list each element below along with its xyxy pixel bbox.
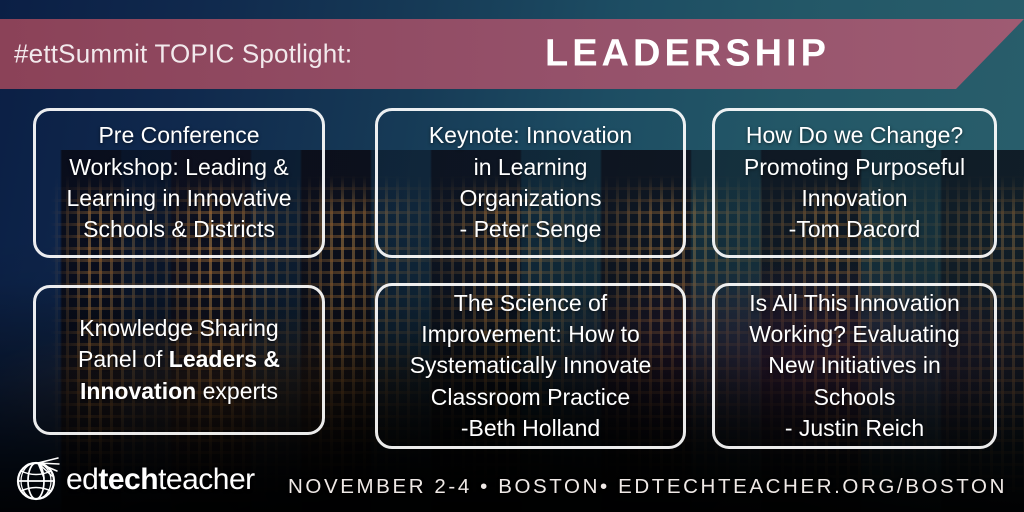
session-line-2: Promoting Purposeful xyxy=(744,154,965,180)
session-line-1: The Science of xyxy=(454,290,607,316)
session-line-2: Improvement: How to xyxy=(421,321,640,347)
event-details: NOVEMBER 2-4 • BOSTON• EDTECHTEACHER.ORG… xyxy=(288,475,1007,499)
session-line-2-prefix: Panel of xyxy=(78,346,169,372)
session-card-science-of-improvement[interactable]: The Science of Improvement: How to Syste… xyxy=(375,283,686,449)
session-line-3: Innovation xyxy=(801,185,907,211)
session-line-4: Classroom Practice xyxy=(431,384,630,410)
session-line-1: Knowledge Sharing xyxy=(79,315,278,341)
logo-word-ed: ed xyxy=(66,463,98,496)
session-line-3-emphasis: Innovation xyxy=(80,378,196,404)
session-line-3: Systematically Innovate xyxy=(410,352,652,378)
session-card-pre-conference-workshop[interactable]: Pre Conference Workshop: Leading & Learn… xyxy=(33,108,325,258)
session-line-1: Is All This Innovation xyxy=(749,290,960,316)
session-text: Is All This Innovation Working? Evaluati… xyxy=(725,288,984,444)
session-line-4: Schools & Districts xyxy=(83,216,275,242)
session-line-2-emphasis: Leaders & xyxy=(169,346,280,372)
logo-wordmark: edtechteacher xyxy=(66,463,255,497)
session-line-1: Keynote: Innovation xyxy=(429,122,632,148)
session-card-knowledge-sharing-panel[interactable]: Knowledge Sharing Panel of Leaders & Inn… xyxy=(33,285,325,435)
logo-word-tech: tech xyxy=(98,463,158,496)
session-line-1: How Do we Change? xyxy=(746,122,963,148)
banner-tagline: #ettSummit TOPIC Spotlight: xyxy=(14,39,352,70)
globe-icon xyxy=(14,456,62,504)
session-line-1: Pre Conference xyxy=(98,122,259,148)
session-card-is-all-this-innovation-working[interactable]: Is All This Innovation Working? Evaluati… xyxy=(712,283,997,449)
session-line-2: Workshop: Leading & xyxy=(69,154,289,180)
edtechteacher-logo[interactable]: edtechteacher xyxy=(14,456,255,504)
session-card-how-do-we-change[interactable]: How Do we Change? Promoting Purposeful I… xyxy=(712,108,997,258)
session-speaker: - Justin Reich xyxy=(785,415,924,441)
header-banner: #ettSummit TOPIC Spotlight: LEADERSHIP xyxy=(0,19,1024,89)
session-text: Knowledge Sharing Panel of Leaders & Inn… xyxy=(46,313,312,407)
session-text: Pre Conference Workshop: Leading & Learn… xyxy=(46,120,312,245)
session-line-4: Schools xyxy=(814,384,896,410)
session-speaker: - Peter Senge xyxy=(460,216,602,242)
session-line-3: Organizations xyxy=(460,185,602,211)
session-text: Keynote: Innovation in Learning Organiza… xyxy=(388,120,673,245)
session-line-2: Working? Evaluating xyxy=(749,321,960,347)
session-line-3: New Initiatives in xyxy=(768,352,941,378)
session-line-2: in Learning xyxy=(474,154,588,180)
session-speaker: -Beth Holland xyxy=(461,415,600,441)
session-line-3-suffix: experts xyxy=(196,378,278,404)
session-speaker: -Tom Dacord xyxy=(789,216,921,242)
session-text: The Science of Improvement: How to Syste… xyxy=(388,288,673,444)
promo-graphic: #ettSummit TOPIC Spotlight: LEADERSHIP P… xyxy=(0,0,1024,512)
session-text: How Do we Change? Promoting Purposeful I… xyxy=(725,120,984,245)
logo-word-teacher: teacher xyxy=(158,463,255,496)
footer: edtechteacher NOVEMBER 2-4 • BOSTON• EDT… xyxy=(0,448,1024,512)
banner-title: LEADERSHIP xyxy=(545,33,830,76)
session-card-keynote-innovation[interactable]: Keynote: Innovation in Learning Organiza… xyxy=(375,108,686,258)
session-line-3: Learning in Innovative xyxy=(66,185,291,211)
